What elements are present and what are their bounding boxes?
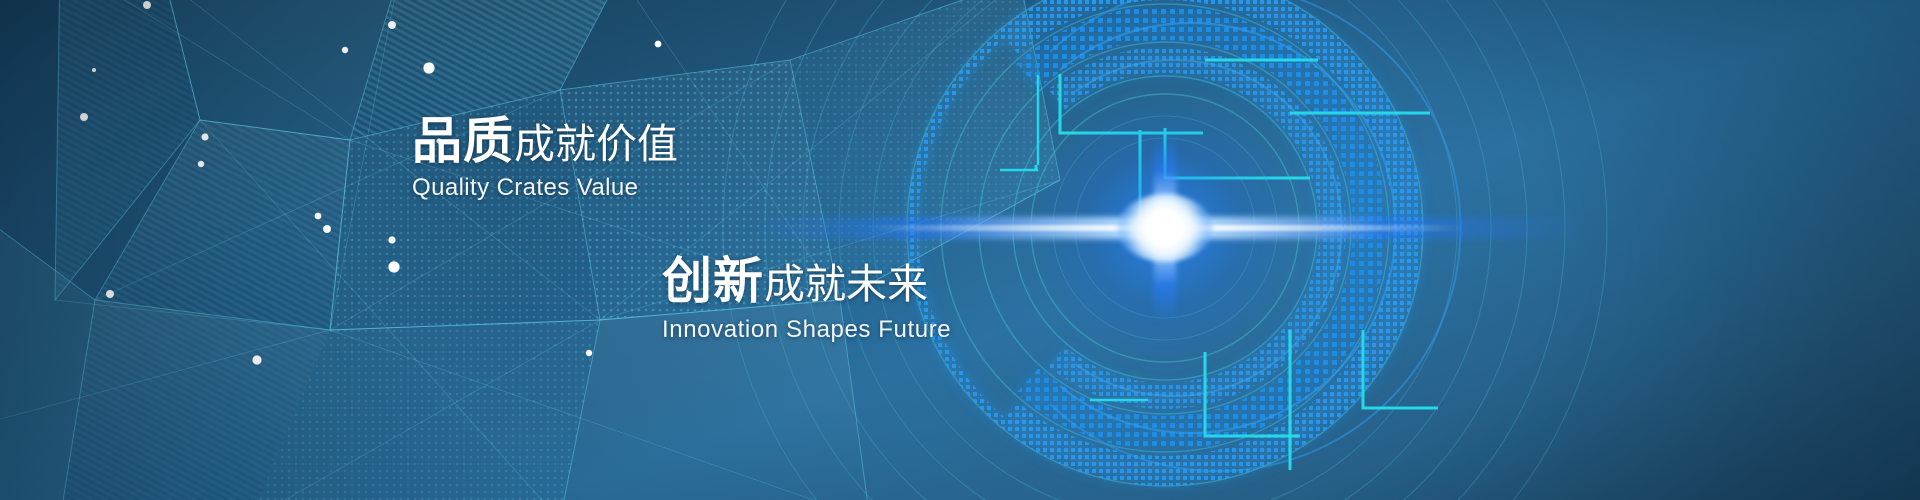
slogan-innovation: 创新成就未来 Innovation Shapes Future [662,256,951,344]
slogan-quality-english: Quality Crates Value [412,174,678,202]
slogan-innovation-chinese-strong: 创新 [662,253,764,309]
slogan-quality-chinese-strong: 品质 [412,113,514,169]
slogan-quality-chinese: 品质成就价值 [412,116,678,166]
dotted-ring-bands [880,0,1460,500]
slogan-quality-chinese-light: 成就价值 [514,121,678,167]
slogan-quality: 品质成就价值 Quality Crates Value [412,116,678,202]
slogan-innovation-chinese: 创新成就未来 [662,256,951,306]
dotted-tech-ring [0,0,1920,500]
slogan-innovation-english: Innovation Shapes Future [662,316,951,344]
hero-banner: 品质成就价值 Quality Crates Value 创新成就未来 Innov… [0,0,1920,500]
slogan-innovation-chinese-light: 成就未来 [764,261,928,307]
